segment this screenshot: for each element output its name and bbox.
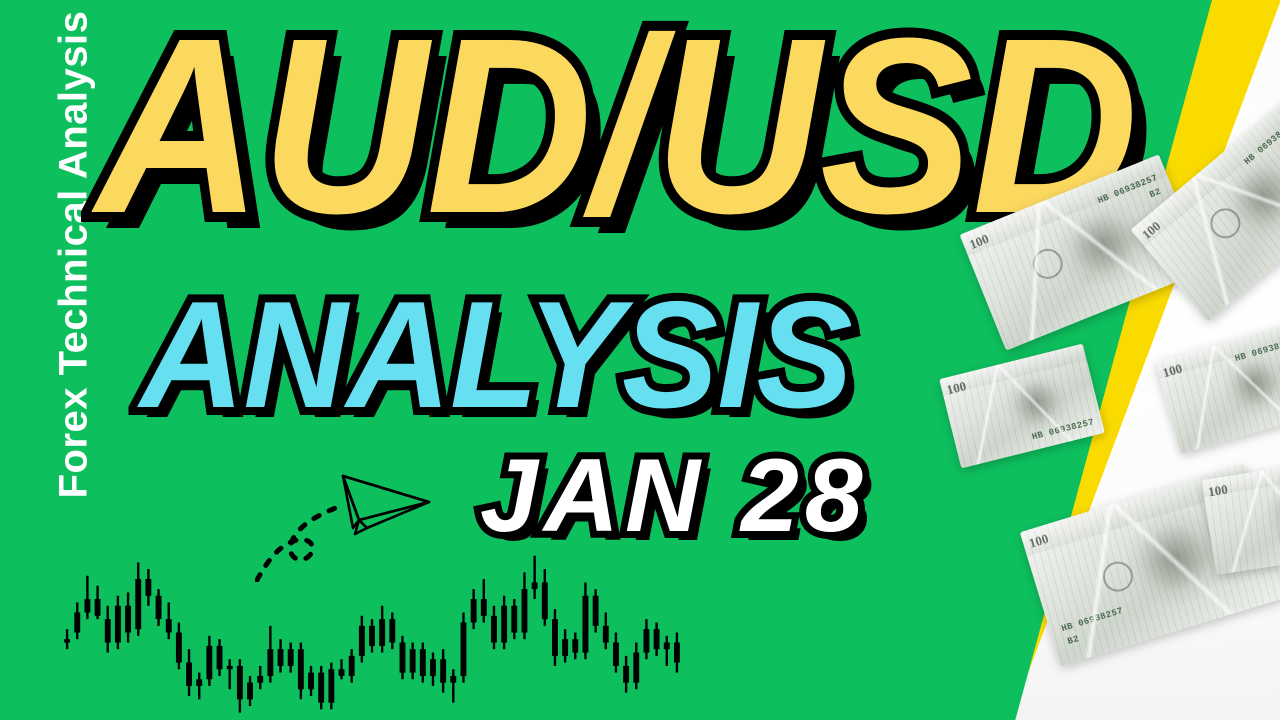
- candle-body: [603, 626, 609, 643]
- candle-body: [389, 619, 395, 642]
- candle-body: [186, 663, 192, 686]
- candle-body: [674, 643, 680, 663]
- candle-body: [105, 619, 111, 642]
- candle-body: [288, 649, 294, 666]
- candle-body: [593, 596, 599, 626]
- candle-body: [339, 669, 345, 676]
- candle-body: [420, 649, 426, 676]
- candle-body: [349, 656, 355, 676]
- candle-body: [481, 599, 487, 616]
- candle-body: [461, 622, 467, 675]
- candle-body: [450, 676, 456, 683]
- candle-body: [379, 619, 385, 646]
- candle-body: [298, 649, 304, 689]
- candle-body: [633, 653, 639, 683]
- candle-body: [552, 619, 558, 656]
- candle-body: [582, 596, 588, 653]
- candle-body: [654, 629, 660, 649]
- candle-body: [217, 646, 223, 669]
- candle-body: [613, 643, 619, 666]
- candle-body: [664, 643, 670, 650]
- candle-body: [308, 673, 314, 690]
- banknote-mid-right: 100 HB 06938257 B2: [1155, 321, 1280, 454]
- candle-body: [166, 619, 172, 632]
- candle-body: [511, 606, 517, 633]
- analysis-subtitle: ANALYSIS: [140, 290, 852, 421]
- candle-body: [430, 659, 436, 676]
- candle-body: [410, 649, 416, 672]
- candle-body: [64, 639, 70, 642]
- candle-body: [74, 612, 80, 632]
- candle-wick: [198, 673, 200, 700]
- thumbnail-canvas: Forex Technical Analysis AUD/USD ANALYSI…: [0, 0, 1280, 720]
- candle-body: [247, 683, 253, 700]
- candle-body: [84, 599, 90, 612]
- candle-wick: [452, 669, 454, 702]
- candle-body: [562, 639, 568, 656]
- candle-body: [227, 666, 233, 669]
- candle-body: [623, 666, 629, 683]
- candle-wick: [340, 659, 342, 679]
- candle-body: [400, 643, 406, 673]
- candle-wick: [666, 636, 668, 666]
- banknote-cluster: 100 100 HB 06938257 B2 100 HB 06938257 1…: [940, 150, 1280, 720]
- date-label: JAN 28: [480, 452, 869, 541]
- candle-body: [471, 599, 477, 622]
- candle-body: [237, 666, 243, 699]
- banknote-mid-left: 100 HB 06938257: [939, 343, 1105, 468]
- candle-body: [643, 629, 649, 652]
- candle-body: [359, 626, 365, 656]
- candle-body: [491, 616, 497, 643]
- candle-body: [115, 606, 121, 643]
- headline-group: AUD/USD ANALYSIS JAN 28: [0, 0, 1000, 600]
- candle-wick: [229, 659, 231, 689]
- candle-body: [572, 639, 578, 652]
- candle-body: [318, 673, 324, 703]
- candle-body: [440, 659, 446, 682]
- candle-body: [257, 676, 263, 683]
- candle-body: [267, 649, 273, 676]
- candle-body: [125, 606, 131, 633]
- candle-body: [176, 633, 182, 663]
- candle-body: [206, 646, 212, 679]
- candle-body: [369, 626, 375, 646]
- candle-body: [278, 649, 284, 666]
- candle-body: [501, 606, 507, 643]
- candle-body: [95, 599, 101, 616]
- candle-body: [328, 669, 334, 702]
- candle-body: [196, 679, 202, 686]
